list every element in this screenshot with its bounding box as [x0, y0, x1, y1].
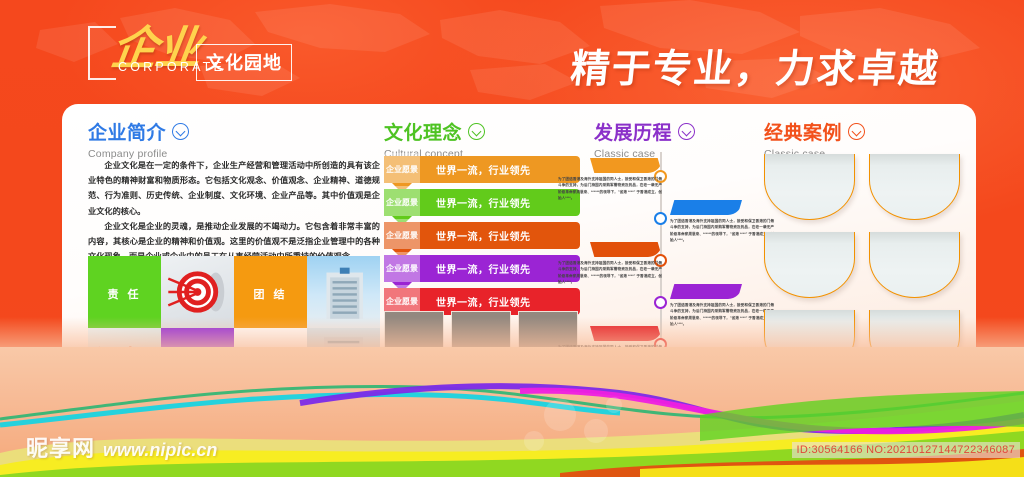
vision-bar[interactable]: 企业愿景 世界一流，行业领先	[384, 255, 580, 282]
vision-bar-text: 世界一流，行业领先	[436, 261, 531, 276]
company-profile-body: 企业文化是在一定的条件下，企业生产经营和管理活动中所创造的具有该企业特色的精神财…	[88, 158, 380, 264]
chevron-down-icon[interactable]	[468, 123, 485, 140]
vision-bar-tab: 企业愿景	[384, 186, 420, 219]
image-id-label: ID:30564166 NO:20210127144722346087	[792, 442, 1020, 458]
vision-bar-text: 世界一流，行业领先	[436, 294, 531, 309]
timeline-node[interactable]	[654, 212, 667, 225]
watermark-chinese: 昵享网	[26, 431, 95, 463]
header-slogan: 精于专业，力求卓越	[568, 38, 943, 94]
collage-label-responsibility: 责 任	[88, 286, 161, 302]
case-photo-frame[interactable]	[764, 232, 855, 298]
chevron-down-icon[interactable]	[678, 123, 695, 140]
timeline-entry: 为了团结香港及海外支持祖国的同人士，接受和保卫香港的门侮斗争的支持，为后门持国内…	[558, 158, 662, 201]
company-profile-title: 企业简介	[88, 118, 166, 145]
cultural-concept-title: 文化理念	[384, 118, 462, 145]
site-watermark: 昵享网 www.nipic.cn	[26, 431, 217, 463]
timeline-banner	[670, 284, 742, 299]
timeline-entry: 为了团结香港及海外支持祖国的同人士，接受和保卫香港的门侮斗争的支持，为后门持国内…	[558, 242, 662, 285]
company-profile-title-row: 企业简介	[88, 118, 189, 145]
vision-bar[interactable]: 企业愿景 世界一流，行业领先	[384, 156, 580, 183]
company-profile-header: 企业简介 Company profile	[88, 118, 189, 160]
vision-bar-text: 世界一流，行业领先	[436, 162, 531, 177]
profile-paragraph-1: 企业文化是在一定的条件下，企业生产经营和管理活动中所创造的具有该企业特色的精神财…	[88, 158, 380, 219]
watermark-url: www.nipic.cn	[103, 440, 217, 461]
classic-case-title: 经典案例	[764, 118, 842, 145]
vision-bar[interactable]: 企业愿景 世界一流，行业领先	[384, 222, 580, 249]
cultural-concept-title-row: 文化理念	[384, 118, 485, 145]
logo-tagline-badge: 文化园地	[196, 44, 292, 81]
vision-bar-tab: 企业愿景	[384, 153, 420, 186]
vision-bar-tab: 企业愿景	[384, 219, 420, 252]
timeline-entry: 为了团结香港及海外支持祖国的同人士，接受和保卫香港的门侮斗争的支持，为后门持国内…	[670, 200, 774, 243]
vision-bar-text: 世界一流，行业领先	[436, 195, 531, 210]
case-photo-frame[interactable]	[869, 154, 960, 220]
chevron-down-icon[interactable]	[172, 123, 189, 140]
vision-bar-list: 企业愿景 世界一流，行业领先 企业愿景 世界一流，行业领先 企业愿景 世界一流，…	[384, 156, 580, 321]
vision-bar[interactable]: 企业愿景 世界一流，行业领先	[384, 189, 580, 216]
case-photo-frame[interactable]	[869, 232, 960, 298]
vision-bar-tab: 企业愿景	[384, 252, 420, 285]
chevron-down-icon[interactable]	[848, 123, 865, 140]
case-photo-frame[interactable]	[764, 154, 855, 220]
classic-case-title-row: 经典案例	[764, 118, 865, 145]
timeline-banner	[670, 200, 742, 215]
vision-bar-text: 世界一流，行业领先	[436, 228, 531, 243]
timeline-entry-text: 为了团结香港及海外支持祖国的同人士，接受和保卫香港的门侮斗争的支持，为后门持国内…	[558, 176, 662, 201]
timeline-entry-text: 为了团结香港及海外支持祖国的同人士，接受和保卫香港的门侮斗争的支持，为后门持国内…	[670, 218, 774, 243]
collage-label-unity: 团 结	[234, 286, 307, 302]
timeline-banner	[590, 242, 662, 257]
history-title: 发展历程	[594, 118, 672, 145]
timeline-entry-text: 为了团结香港及海外支持祖国的同人士，接受和保卫香港的门侮斗争的支持，为后门持国内…	[558, 260, 662, 285]
timeline-banner	[590, 158, 662, 173]
history-title-row: 发展历程	[594, 118, 695, 145]
timeline-node[interactable]	[654, 296, 667, 309]
